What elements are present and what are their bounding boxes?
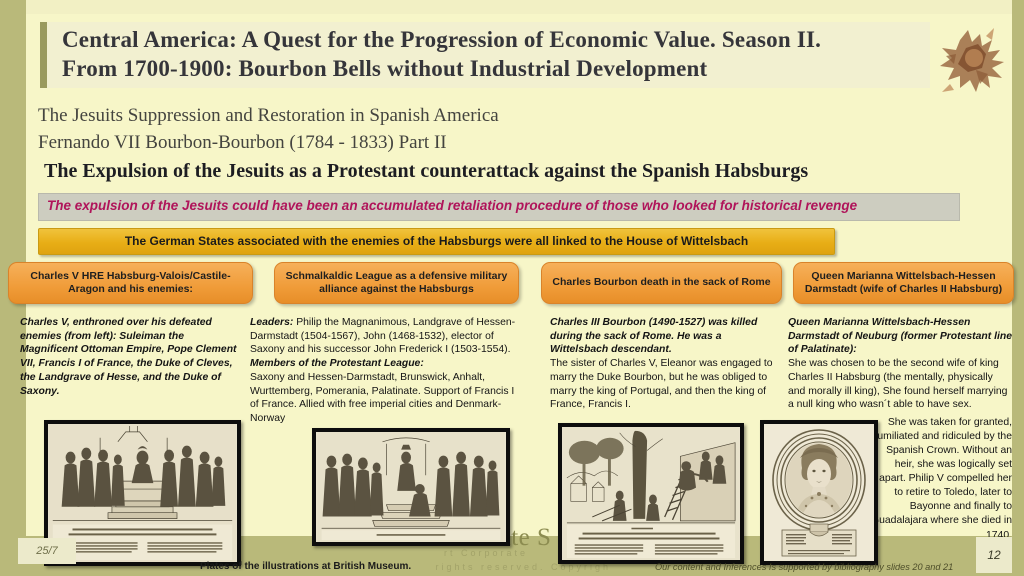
sack-of-rome-death-engraving xyxy=(562,427,740,560)
statement-banner-grey: The expulsion of the Jesuits could have … xyxy=(38,193,960,221)
title-accent-bar xyxy=(40,22,47,88)
column-body-charles-v-italic: Charles V, enthroned over his defeated e… xyxy=(20,316,242,398)
column-body-charles-bourbon: Charles III Bourbon (1490-1527) was kill… xyxy=(550,316,782,412)
column-body-queen-marianna-plain: She was chosen to be the second wife of … xyxy=(788,357,1012,412)
leaders-label: Leaders: xyxy=(250,317,293,328)
subtitle-line-3: The Expulsion of the Jesuits as a Protes… xyxy=(44,160,808,183)
column-body-charles-v: Charles V, enthroned over his defeated e… xyxy=(20,316,242,398)
slide-page-number: 12 xyxy=(976,537,1012,573)
column-body-schmalkaldic-league: Leaders: Philip the Magnanimous, Landgra… xyxy=(250,316,522,426)
column-body-charles-bourbon-italic: Charles III Bourbon (1490-1527) was kill… xyxy=(550,316,782,357)
plate-sack-of-rome-death xyxy=(558,423,744,564)
column-body-queen-marianna-italic: Queen Marianna Wittelsbach-Hessen Darmst… xyxy=(788,316,1012,357)
column-header-schmalkaldic-league-label: Schmalkaldic League as a defensive milit… xyxy=(281,270,512,296)
plate-queen-marianna-portrait xyxy=(760,420,878,565)
bibliography-note: Our content and Inferences Is supported … xyxy=(655,562,953,572)
statement-banner-grey-text: The expulsion of the Jesuits could have … xyxy=(39,194,959,213)
column-body-charles-bourbon-plain: The sister of Charles V, Eleanor was eng… xyxy=(550,357,782,412)
decorative-splatter-icon xyxy=(930,26,1012,98)
column-header-queen-marianna-label: Queen Marianna Wittelsbach-Hessen Darmst… xyxy=(800,270,1007,296)
members-text: Saxony and Hessen-Darmstadt, Brunswick, … xyxy=(250,371,522,426)
charles-v-enthroned-engraving xyxy=(48,424,237,562)
queen-marianna-portrait-engraving xyxy=(764,424,874,561)
column-header-charles-bourbon: Charles Bourbon death in the sack of Rom… xyxy=(541,262,782,304)
statement-banner-gold: The German States associated with the en… xyxy=(38,228,835,255)
plate-court-audience xyxy=(312,428,510,546)
column-header-charles-v: Charles V HRE Habsburg-Valois/Castile-Ar… xyxy=(8,262,253,304)
column-header-charles-v-label: Charles V HRE Habsburg-Valois/Castile-Ar… xyxy=(15,270,246,296)
slide-date-chip: 25/7 xyxy=(18,538,76,564)
title-panel: Central America: A Quest for the Progres… xyxy=(40,22,930,88)
statement-banner-gold-text: The German States associated with the en… xyxy=(39,229,834,248)
subtitle-line-2: Fernando VII Bourbon-Bourbon (1784 - 183… xyxy=(38,132,447,154)
column-header-charles-bourbon-label: Charles Bourbon death in the sack of Rom… xyxy=(552,276,770,289)
slide-top-edge xyxy=(0,0,1024,14)
emperor-court-audience-engraving xyxy=(316,432,506,542)
members-label: Members of the Protestant League: xyxy=(250,357,522,371)
title-line-1: Central America: A Quest for the Progres… xyxy=(62,27,821,53)
plates-source-note: Plates of the illustrations at British M… xyxy=(200,561,411,572)
column-header-schmalkaldic-league: Schmalkaldic League as a defensive milit… xyxy=(274,262,519,304)
subtitle-line-1: The Jesuits Suppression and Restoration … xyxy=(38,105,499,127)
column-header-queen-marianna: Queen Marianna Wittelsbach-Hessen Darmst… xyxy=(793,262,1014,304)
title-line-2: From 1700-1900: Bourbon Bells without In… xyxy=(62,56,707,82)
